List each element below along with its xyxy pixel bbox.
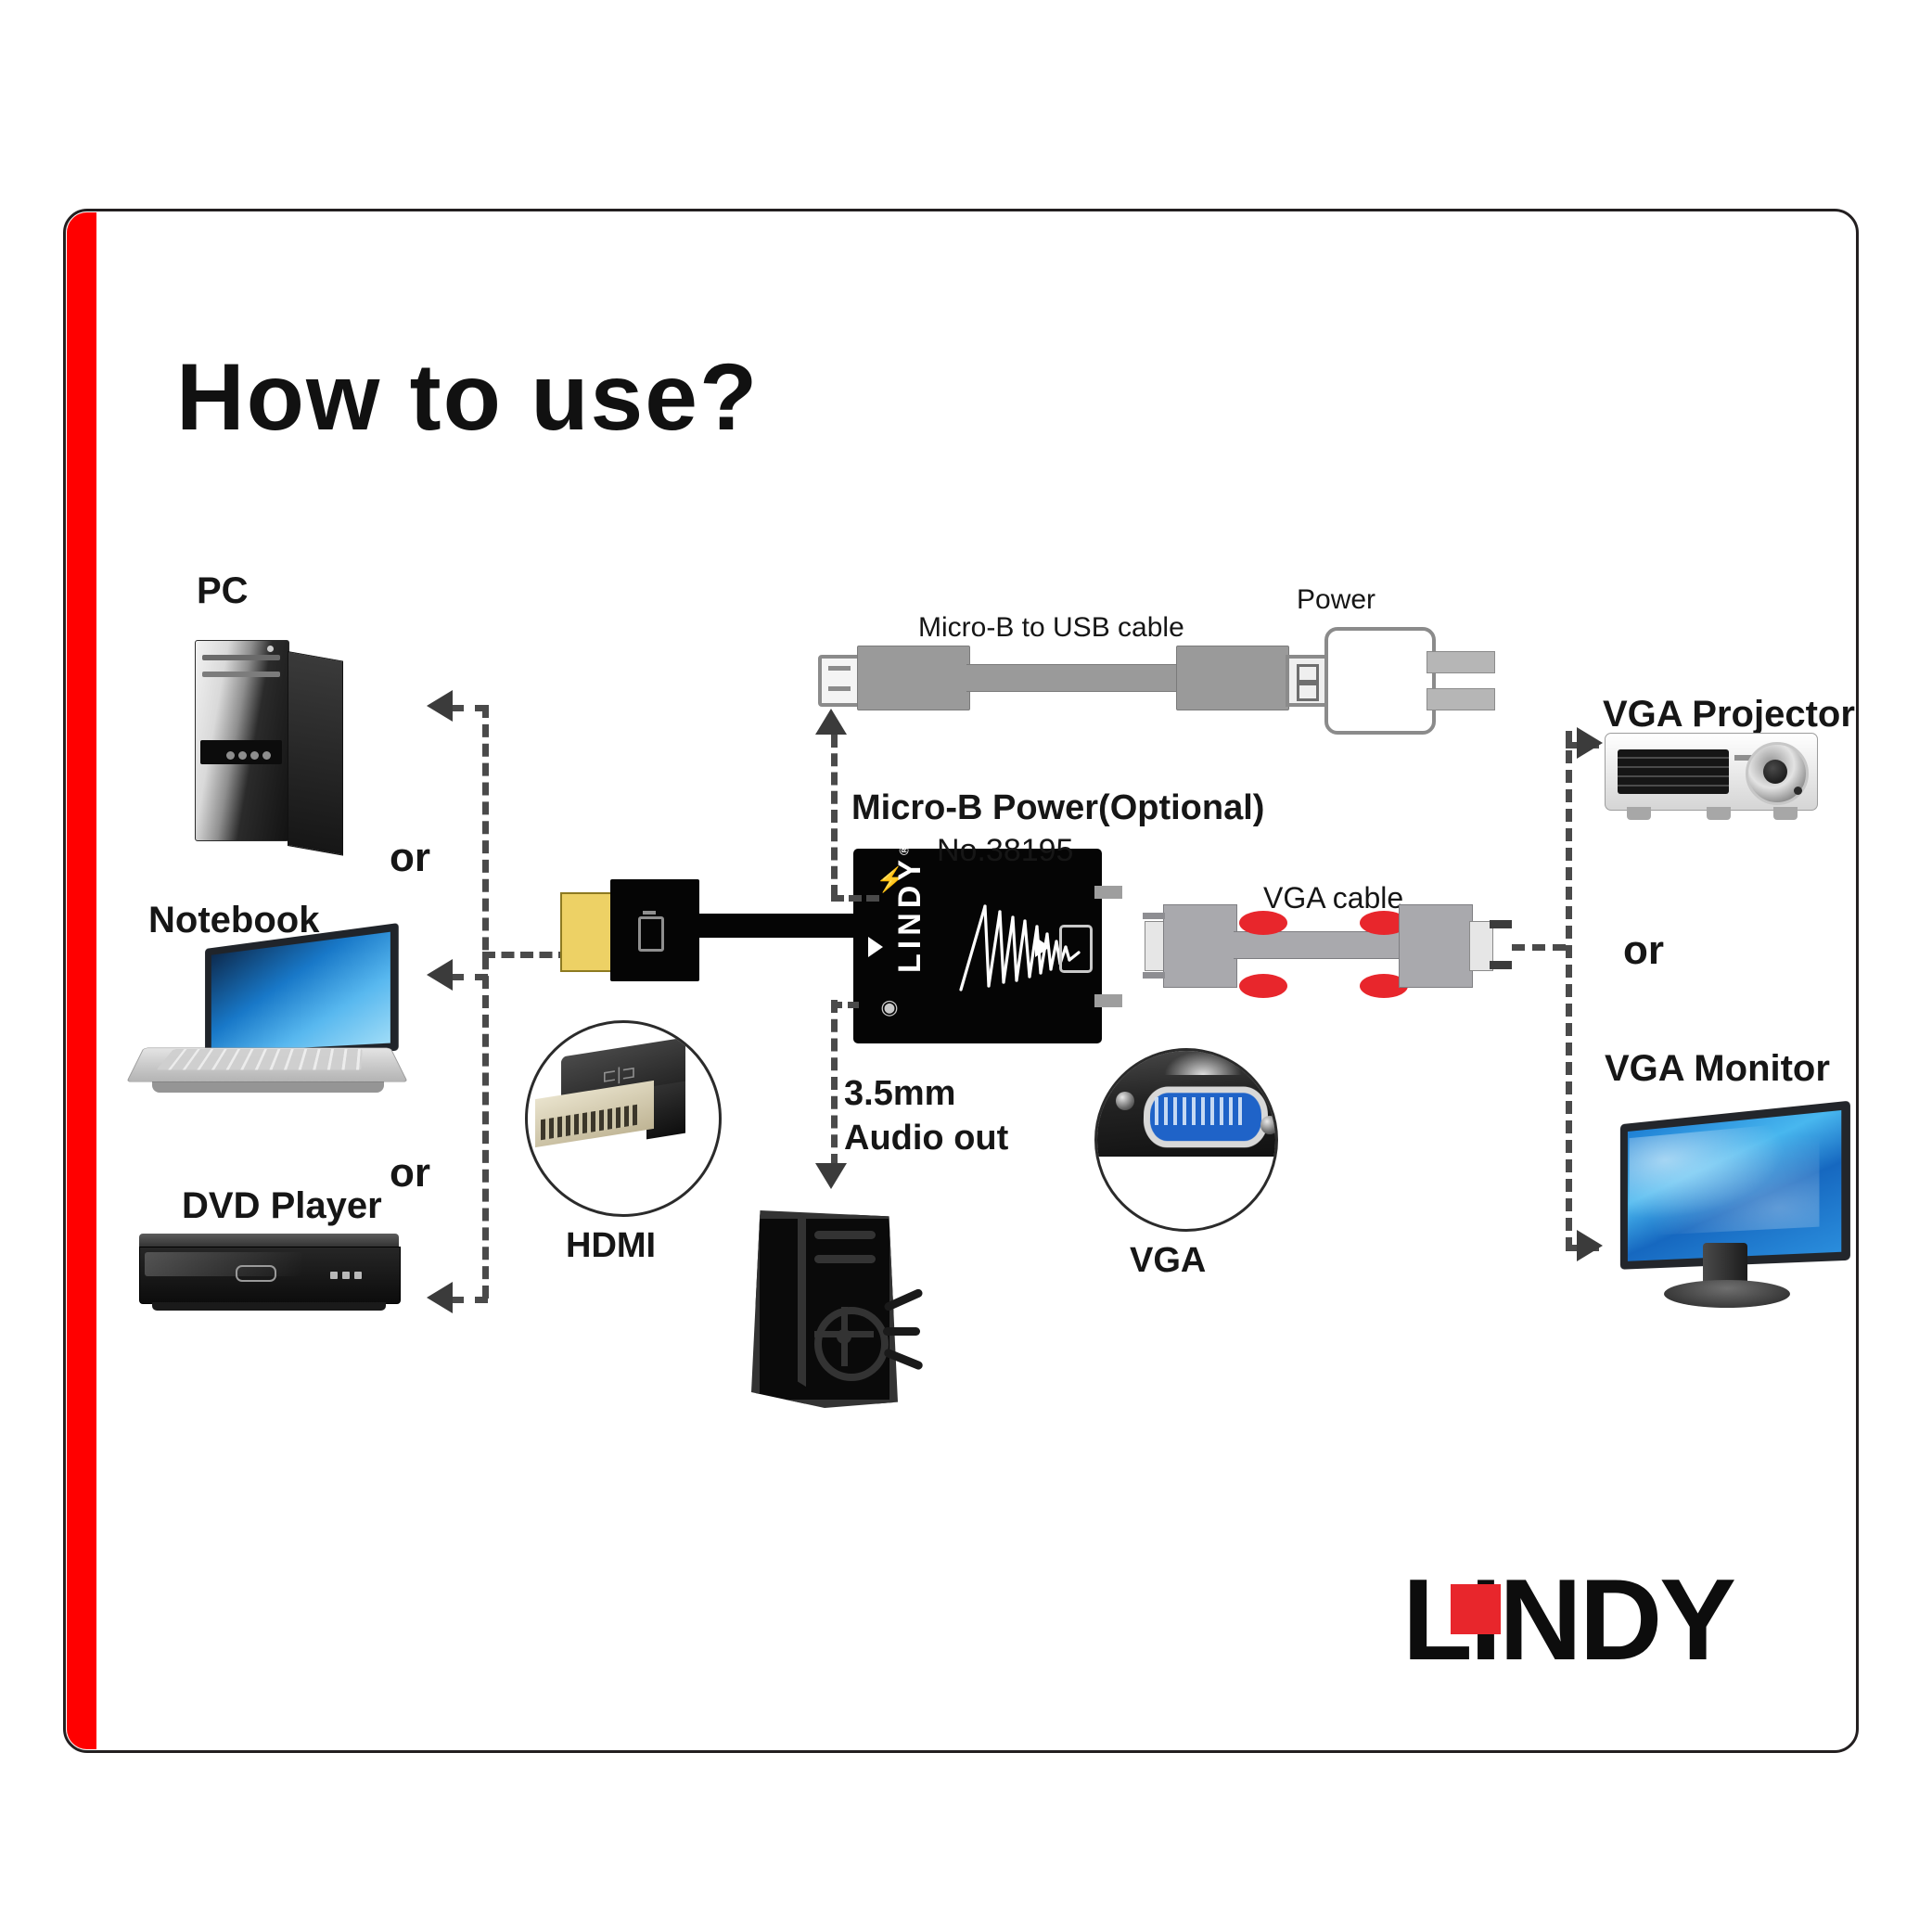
hdmi-cable — [694, 914, 855, 938]
page-title: How to use? — [176, 343, 759, 452]
notebook-label: Notebook — [148, 900, 319, 941]
speaker-illustration — [742, 1210, 918, 1410]
pc-tower-illustration — [195, 631, 343, 844]
arrow-to-speaker — [815, 1163, 847, 1189]
speaker-icon: ◉ — [876, 993, 903, 1021]
arrow-to-monitor — [1577, 1230, 1603, 1261]
micro-b-power-line — [831, 735, 838, 898]
vga-thumbscrew-2 — [1239, 974, 1287, 998]
source-bus-line — [482, 705, 489, 1299]
output-bus-entry — [1512, 944, 1566, 951]
hdmi-callout-label: HDMI — [566, 1226, 656, 1266]
audio-out-line — [831, 1000, 838, 1167]
diagram-canvas: How to use? PC or Notebook or DVD Player — [0, 0, 1932, 1932]
usb-cable-label: Micro-B to USB cable — [918, 612, 1184, 644]
notebook-illustration — [128, 937, 406, 1113]
micro-b-shell — [857, 646, 970, 710]
arrow-to-projector — [1577, 727, 1603, 759]
hdmi-to-vga-converter: ⚡ ◉ LINDY® — [853, 849, 1102, 1043]
vga-cable-wire — [1234, 931, 1401, 959]
vga-left-ear-bottom — [1143, 972, 1165, 979]
device-brand-text: LINDY® — [892, 847, 929, 973]
micro-b-power-label: Micro-B Power(Optional) — [851, 788, 1264, 828]
hdmi-link-line — [482, 952, 571, 958]
or-label-notebook-dvd: or — [390, 1150, 430, 1196]
pc-label: PC — [197, 570, 249, 612]
power-prong-top — [1427, 651, 1495, 673]
lindy-logo-square — [1451, 1584, 1501, 1634]
audio-out-label-line1: 3.5mm — [844, 1074, 955, 1114]
power-prong-bottom — [1427, 688, 1495, 710]
model-number-label: No.38195 — [937, 833, 1073, 869]
red-accent-bar — [67, 212, 96, 1749]
arrow-to-usb-cable — [815, 709, 847, 735]
hdmi-callout-circle: ⊏|⊐ — [525, 1020, 722, 1217]
or-label-projector-monitor: or — [1623, 928, 1664, 974]
device-vga-port-mark — [1059, 925, 1093, 973]
audio-out-stub — [831, 1002, 859, 1008]
power-label: Power — [1297, 584, 1375, 616]
projector-illustration — [1605, 733, 1818, 835]
source-bus-stub-notebook — [451, 974, 488, 980]
source-bus-stub-pc — [451, 705, 488, 711]
input-arrow-icon — [868, 937, 883, 957]
projector-label: VGA Projector — [1603, 694, 1855, 736]
vga-connector-left — [1163, 904, 1237, 988]
arrow-to-dvd — [427, 1282, 453, 1313]
vga-callout-label: VGA — [1130, 1241, 1206, 1281]
device-side-stub-bottom — [1094, 994, 1122, 1007]
vga-right-pin-top — [1490, 920, 1512, 928]
audio-out-label-line2: Audio out — [844, 1119, 1008, 1158]
monitor-label: VGA Monitor — [1605, 1048, 1830, 1090]
or-label-pc-notebook: or — [390, 835, 430, 881]
output-arrow-icon — [1035, 937, 1050, 957]
vga-connector-right — [1399, 904, 1473, 988]
dvd-player-illustration — [139, 1234, 399, 1319]
vga-left-ear-top — [1143, 913, 1165, 919]
usb-cable-wire — [966, 664, 1180, 692]
source-bus-stub-dvd — [451, 1297, 488, 1303]
device-side-stub-top — [1094, 886, 1122, 899]
vga-right-pin-bottom — [1490, 961, 1512, 969]
output-bus-line — [1566, 731, 1572, 1250]
usb-a-shell — [1176, 646, 1289, 710]
power-adapter-illustration — [1324, 627, 1436, 735]
monitor-illustration — [1606, 1113, 1838, 1308]
vga-thumbscrew-1 — [1239, 911, 1287, 935]
arrow-to-notebook — [427, 959, 453, 991]
micro-b-power-stub — [831, 895, 879, 902]
dvd-label: DVD Player — [182, 1185, 382, 1227]
vga-callout-circle — [1094, 1048, 1278, 1232]
arrow-to-pc — [427, 690, 453, 722]
hdmi-plug-illustration — [560, 879, 699, 981]
